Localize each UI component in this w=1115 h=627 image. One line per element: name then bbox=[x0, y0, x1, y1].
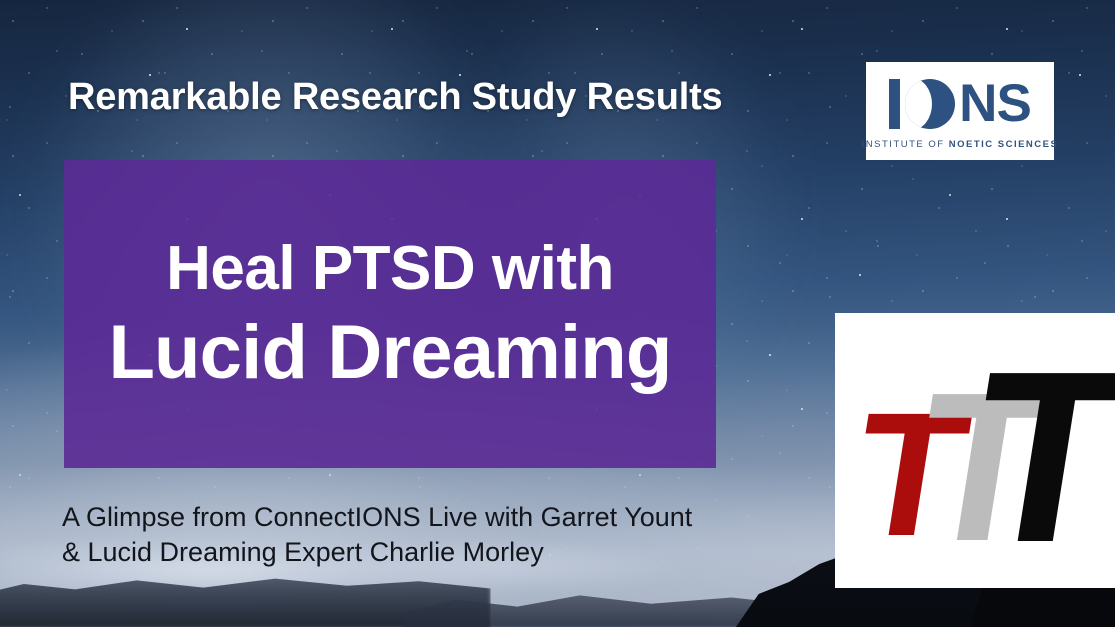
subtitle-line-2: & Lucid Dreaming Expert Charlie Morley bbox=[62, 535, 802, 570]
ions-wordmark: NS bbox=[889, 76, 1031, 132]
title-line-1: Heal PTSD with bbox=[166, 236, 614, 302]
ions-tagline-light: INSTITUTE OF bbox=[862, 139, 949, 150]
ions-tagline: INSTITUTE OF NOETIC SCIENCES bbox=[862, 139, 1059, 150]
title-purple-block: Heal PTSD with Lucid Dreaming bbox=[64, 160, 716, 468]
video-thumbnail-slide: Remarkable Research Study Results Heal P… bbox=[0, 0, 1115, 627]
moon-phase-o-icon bbox=[905, 79, 955, 129]
letter-i-icon bbox=[889, 79, 900, 129]
ttt-logo: T T T bbox=[835, 313, 1115, 588]
ttt-logo-glyphs: T T T bbox=[835, 313, 1115, 588]
ions-logo: NS INSTITUTE OF NOETIC SCIENCES bbox=[866, 62, 1054, 160]
ions-tagline-bold: NOETIC SCIENCES bbox=[949, 139, 1059, 150]
subtitle-line-1: A Glimpse from ConnectIONS Live with Gar… bbox=[62, 500, 802, 535]
headline-text: Remarkable Research Study Results bbox=[68, 76, 722, 119]
subtitle-text: A Glimpse from ConnectIONS Live with Gar… bbox=[62, 500, 802, 570]
title-line-2: Lucid Dreaming bbox=[108, 313, 671, 392]
ions-wordmark-ns: NS bbox=[959, 79, 1031, 129]
